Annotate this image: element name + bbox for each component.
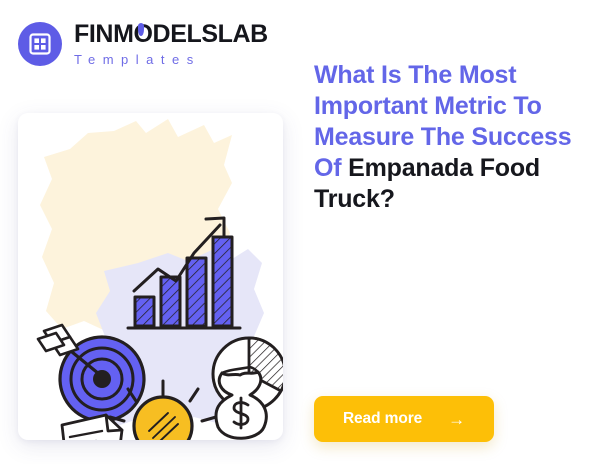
promo-card: FINMODELSLAB Templates — [0, 0, 600, 464]
page-title: What Is The Most Important Metric To Mea… — [314, 60, 582, 215]
illustration-card — [18, 113, 283, 440]
arrow-right-icon: → — [448, 411, 465, 428]
map-pin-drop-icon — [138, 23, 144, 36]
brand-logo[interactable]: FINMODELSLAB Templates — [18, 22, 268, 66]
brand-tagline: Templates — [74, 53, 268, 66]
brand-name: FINMODELSLAB — [74, 22, 268, 47]
business-metrics-illustration — [18, 113, 283, 440]
brand-wordmark: FINMODELSLAB Templates — [74, 22, 268, 66]
headline-block: What Is The Most Important Metric To Mea… — [314, 60, 582, 215]
headline-topic: Empanada Food Truck? — [314, 154, 540, 213]
money-bag-icon — [216, 367, 266, 438]
grid-squares-icon — [18, 22, 62, 66]
read-more-button[interactable]: Read more → — [314, 396, 494, 442]
read-more-label: Read more — [343, 410, 422, 428]
